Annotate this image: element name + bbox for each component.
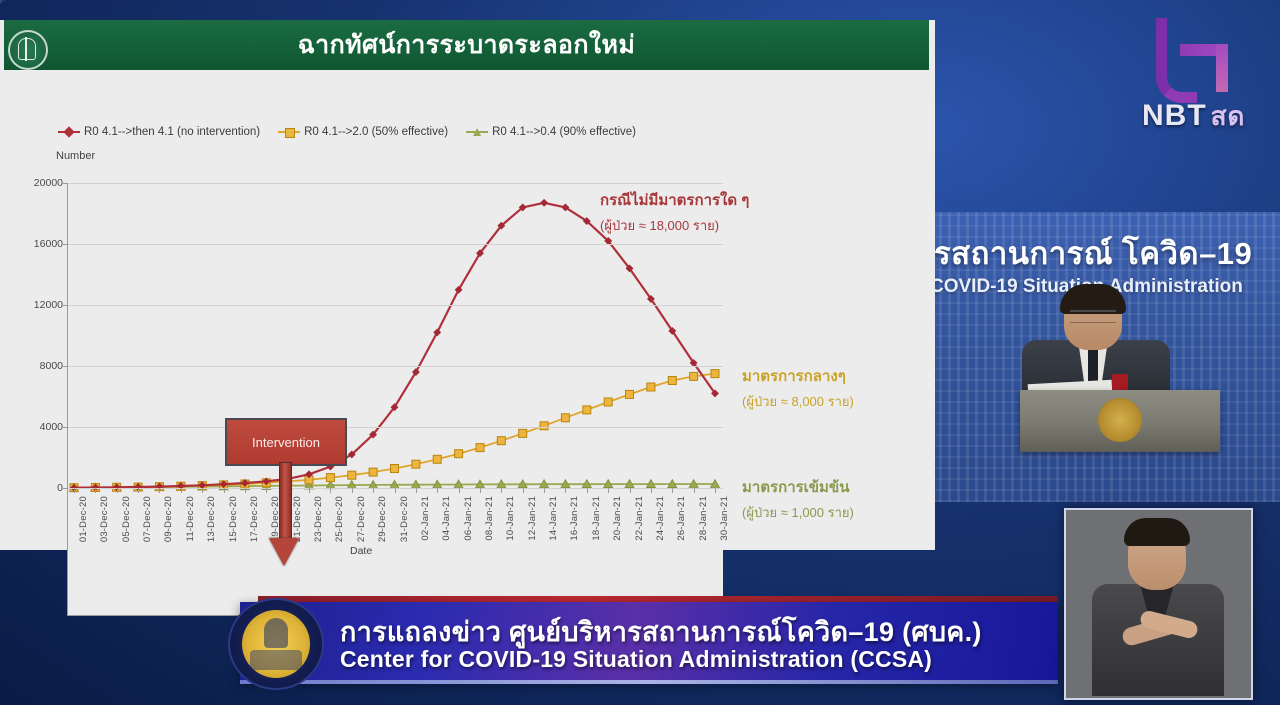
chart-data-point [583,406,591,414]
x-axis-tick-label: 08-Jan-21 [484,496,495,541]
x-axis-tick-mark [266,488,267,493]
x-axis-tick-label: 27-Dec-20 [356,496,367,542]
chart-data-point [391,465,399,473]
x-axis-tick-mark [565,488,566,493]
intervention-arrow-icon [275,462,293,566]
chart-series-0 [70,199,719,492]
x-axis-tick-mark [159,488,160,493]
x-axis-tick-mark [630,488,631,493]
annotation-strict-measures: มาตรการเข้มข้น (ผู้ป่วย ≈ 1,000 ราย) [742,475,854,523]
legend-marker-square-icon [278,127,300,137]
y-axis-tick-mark [63,427,68,428]
chart-data-point [348,471,356,479]
x-axis-tick-mark [309,488,310,493]
nbt-mark-icon [1150,18,1236,96]
chart-data-point [369,468,377,476]
x-axis-tick-mark [651,488,652,493]
x-axis-title: Date [350,545,372,557]
chart-gridline [68,244,723,245]
legend-item-0: R0 4.1-->then 4.1 (no intervention) [58,126,260,138]
chart-plot-area: 04000800012000160002000001-Dec-2003-Dec-… [67,183,723,616]
x-axis-tick-mark [416,488,417,493]
chart-data-point [540,199,548,207]
x-axis-tick-label: 12-Jan-21 [527,496,538,541]
x-axis-tick-label: 24-Jan-21 [655,496,666,541]
broadcast-screen: รสถานการณ์ โควิด–19 COVID-19 Situation A… [0,0,1280,705]
chart-data-point [690,372,698,380]
chart-data-point [711,370,719,378]
intervention-box: Intervention [225,418,347,466]
x-axis-tick-label: 31-Dec-20 [399,496,410,542]
x-axis-tick-mark [138,488,139,493]
chart-data-point [519,429,527,437]
y-axis-title: Number [56,150,95,162]
y-axis-tick-label: 8000 [0,360,63,372]
legend-label-0: R0 4.1-->then 4.1 (no intervention) [84,126,260,138]
x-axis-tick-label: 29-Dec-20 [377,496,388,542]
ministry-of-public-health-icon [8,30,48,70]
chart-gridline [68,427,723,428]
annotation-no-intervention: กรณีไม่มีมาตรการใด ๆ (ผู้ป่วย ≈ 18,000 ร… [600,188,749,236]
chart-data-point [433,455,441,463]
x-axis-tick-label: 01-Dec-20 [78,496,89,542]
x-axis-tick-label: 18-Jan-21 [591,496,602,541]
x-axis-tick-label: 30-Jan-21 [719,496,730,541]
x-axis-tick-mark [694,488,695,493]
x-axis-tick-mark [523,488,524,493]
x-axis-tick-mark [608,488,609,493]
intervention-label: Intervention [252,435,320,450]
y-axis-tick-mark [63,488,68,489]
x-axis-tick-label: 14-Jan-21 [548,496,559,541]
x-axis-tick-label: 23-Dec-20 [313,496,324,542]
slide-header-bar: ฉากทัศน์การระบาดระลอกใหม่ [4,20,929,70]
annotation-strict-line1: มาตรการเข้มข้น [742,475,854,499]
x-axis-tick-mark [74,488,75,493]
nbt-letters: NBT [1142,99,1207,132]
x-axis-tick-mark [117,488,118,493]
presentation-slide: ฉากทัศน์การระบาดระลอกใหม่ R0 4.1-->then … [0,20,935,550]
x-axis-tick-label: 16-Jan-21 [569,496,580,541]
backdrop-headline-text: รสถานการณ์ โควิด–19 [934,228,1280,270]
chart-gridline [68,183,723,184]
chart-series-1 [70,370,719,492]
x-axis-tick-label: 11-Dec-20 [185,496,196,541]
legend-item-1: R0 4.1-->2.0 (50% effective) [278,126,448,138]
x-axis-tick-mark [459,488,460,493]
x-axis-tick-label: 05-Dec-20 [121,496,132,542]
x-axis-tick-label: 26-Jan-21 [676,496,687,541]
y-axis-tick-label: 4000 [0,421,63,433]
chart-data-point [604,398,612,406]
x-axis-tick-mark [330,488,331,493]
x-axis-tick-label: 28-Jan-21 [698,496,709,541]
lower-third-banner: การแถลงข่าว ศูนย์บริหารสถานการณ์โควิด–19… [180,596,1058,688]
x-axis-tick-mark [672,488,673,493]
chart-gridline [68,488,723,489]
annotation-strict-line2: (ผู้ป่วย ≈ 1,000 ราย) [742,502,854,523]
legend-marker-diamond-icon [58,127,80,137]
chart-data-point [540,422,548,430]
chart-gridline [68,305,723,306]
chart-data-point [497,437,505,445]
garuda-emblem-icon [228,598,324,690]
chart-data-point [326,474,334,482]
legend-item-2: R0 4.1-->0.4 (90% effective) [466,126,636,138]
x-axis-tick-label: 20-Jan-21 [612,496,623,541]
x-axis-tick-mark [245,488,246,493]
x-axis-tick-mark [501,488,502,493]
x-axis-tick-label: 06-Jan-21 [463,496,474,541]
x-axis-tick-mark [715,488,716,493]
y-axis-tick-mark [63,366,68,367]
live-badge: สด [1211,101,1246,131]
x-axis-tick-label: 21-Dec-20 [292,496,303,542]
y-axis-tick-mark [63,183,68,184]
x-axis-tick-mark [224,488,225,493]
nbt-channel-logo: NBTสด [1136,16,1264,140]
x-axis-tick-label: 13-Dec-20 [206,496,217,542]
y-axis-tick-label: 0 [0,482,63,494]
annotation-moderate-line1: มาตรการกลางๆ [742,364,854,388]
interpreter-hair [1124,518,1190,546]
x-axis-tick-label: 10-Jan-21 [505,496,516,541]
y-axis-tick-label: 16000 [0,238,63,250]
chart-data-point [647,383,655,391]
x-axis-tick-mark [95,488,96,493]
legend-label-1: R0 4.1-->2.0 (50% effective) [304,126,448,138]
banner-bottom-stripe [240,680,1058,684]
x-axis-tick-label: 09-Dec-20 [163,496,174,542]
x-axis-tick-mark [202,488,203,493]
chart-data-point [476,444,484,452]
speaker-glasses [1070,310,1116,323]
x-axis-tick-mark [395,488,396,493]
y-axis-tick-label: 20000 [0,177,63,189]
x-axis-tick-mark [544,488,545,493]
x-axis-tick-label: 17-Dec-20 [249,496,260,542]
x-axis-tick-label: 25-Dec-20 [334,496,345,542]
x-axis-tick-mark [181,488,182,493]
legend-marker-triangle-icon [466,127,488,137]
chart-legend: R0 4.1-->then 4.1 (no intervention) R0 4… [58,126,636,138]
y-axis-tick-mark [63,244,68,245]
chart-data-point [455,450,463,458]
x-axis-tick-label: 07-Dec-20 [142,496,153,542]
x-axis-tick-mark [352,488,353,493]
y-axis-tick-mark [63,305,68,306]
y-axis-tick-label: 12000 [0,299,63,311]
x-axis-tick-label: 22-Jan-21 [634,496,645,541]
chart-data-point [668,377,676,385]
annotation-moderate-line2: (ผู้ป่วย ≈ 8,000 ราย) [742,391,854,412]
x-axis-tick-mark [373,488,374,493]
chart-data-point [412,460,420,468]
annotation-no-intervention-line1: กรณีไม่มีมาตรการใด ๆ [600,188,749,212]
x-axis-tick-mark [480,488,481,493]
chart-gridline [68,366,723,367]
x-axis-tick-label: 02-Jan-21 [420,496,431,541]
slide-title: ฉากทัศน์การระบาดระลอกใหม่ [298,25,636,65]
nbt-wordmark: NBTสด [1142,96,1262,137]
x-axis-tick-label: 04-Jan-21 [441,496,452,541]
sign-language-interpreter-inset [1064,508,1253,700]
chart-data-point [626,390,634,398]
podium-emblem-icon [1098,398,1142,442]
chart-data-point [561,414,569,422]
chart-data-point [433,328,441,336]
x-axis-tick-mark [587,488,588,493]
x-axis-tick-label: 15-Dec-20 [228,496,239,542]
x-axis-tick-label: 03-Dec-20 [99,496,110,542]
legend-label-2: R0 4.1-->0.4 (90% effective) [492,126,636,138]
annotation-no-intervention-line2: (ผู้ป่วย ≈ 18,000 ราย) [600,215,749,236]
annotation-moderate-measures: มาตรการกลางๆ (ผู้ป่วย ≈ 8,000 ราย) [742,364,854,412]
x-axis-tick-mark [437,488,438,493]
banner-english-title: Center for COVID-19 Situation Administra… [340,646,1040,673]
